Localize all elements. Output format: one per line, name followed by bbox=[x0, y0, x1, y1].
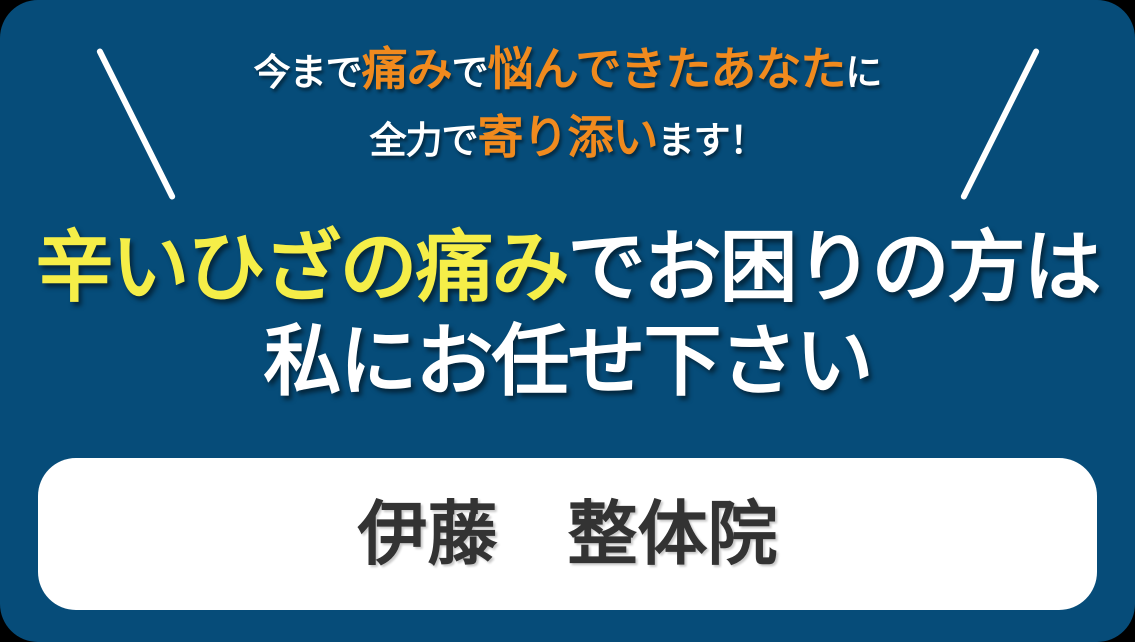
lead-line1-part1: 今まで bbox=[254, 52, 362, 93]
lead-line1-part4: 悩んできたあなた bbox=[488, 43, 846, 95]
headline-line2-rest: 私にお任せ下さい bbox=[263, 317, 871, 405]
lead-copy-line-1: 今まで痛みで悩んできたあなたに bbox=[0, 46, 1135, 92]
lead-line1-part2: 痛み bbox=[362, 43, 452, 95]
lead-line1-part5: に bbox=[845, 52, 881, 93]
lead-line2-part2: 寄り添い bbox=[478, 111, 658, 163]
lead-copy: 今まで痛みで悩んできたあなたに 全力で寄り添います！ bbox=[0, 46, 1135, 160]
headline-line-1: 辛いひざの痛みでお困りの方は bbox=[0, 228, 1135, 306]
lead-line2-part1: 全力で bbox=[370, 120, 478, 161]
clinic-nameplate[interactable]: 伊藤 整体院 bbox=[38, 458, 1097, 610]
headline-line1-rest: でお困りの方は bbox=[568, 223, 1100, 311]
promo-banner: 今まで痛みで悩んできたあなたに 全力で寄り添います！ 辛いひざの痛みでお困りの方… bbox=[0, 0, 1135, 642]
headline-line-2: 私にお任せ下さい bbox=[0, 322, 1135, 400]
lead-line1-part3: で bbox=[452, 52, 488, 93]
headline: 辛いひざの痛みでお困りの方は 私にお任せ下さい bbox=[0, 228, 1135, 400]
lead-copy-line-2: 全力で寄り添います！ bbox=[0, 114, 1135, 160]
headline-highlight: 辛いひざの痛み bbox=[35, 223, 567, 311]
lead-line2-part3: ます！ bbox=[658, 120, 766, 161]
clinic-name-text: 伊藤 整体院 bbox=[358, 499, 778, 569]
